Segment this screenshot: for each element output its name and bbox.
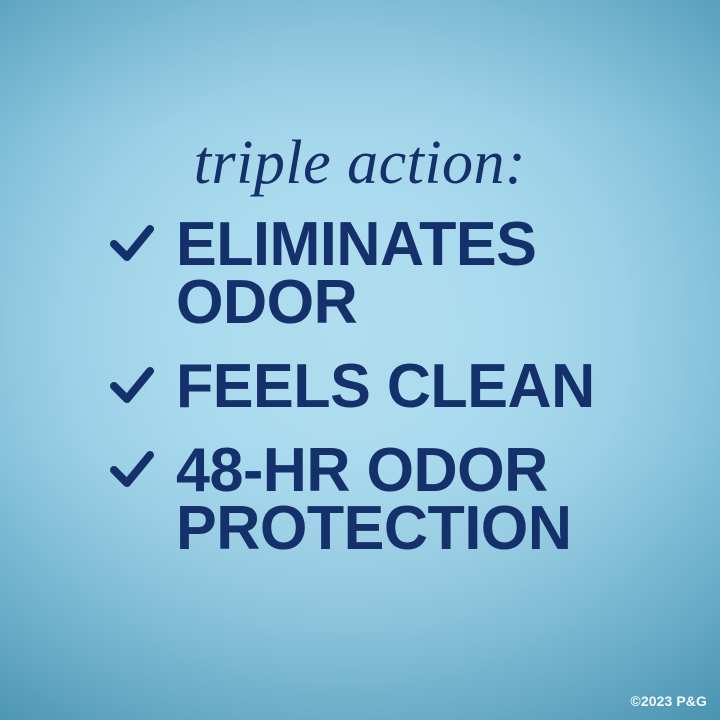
- benefit-label: 48-HR ODOR PROTECTION: [176, 442, 702, 558]
- list-item: ELIMINATES ODOR: [110, 216, 710, 332]
- copyright-notice: ©2023 P&G: [630, 694, 707, 708]
- check-icon: [110, 362, 154, 408]
- content-layer: triple action: ELIMINATES ODOR FEELS CLE…: [0, 0, 720, 720]
- check-icon: [110, 446, 154, 492]
- list-item: FEELS CLEAN: [110, 358, 710, 416]
- benefit-list: ELIMINATES ODOR FEELS CLEAN 48-HR ODOR P…: [110, 216, 710, 558]
- benefit-label: FEELS CLEAN: [176, 358, 702, 416]
- benefit-label: ELIMINATES ODOR: [176, 216, 702, 332]
- page-title: triple action:: [0, 132, 720, 194]
- marketing-graphic: triple action: ELIMINATES ODOR FEELS CLE…: [0, 0, 720, 720]
- list-item: 48-HR ODOR PROTECTION: [110, 442, 710, 558]
- check-icon: [110, 220, 154, 266]
